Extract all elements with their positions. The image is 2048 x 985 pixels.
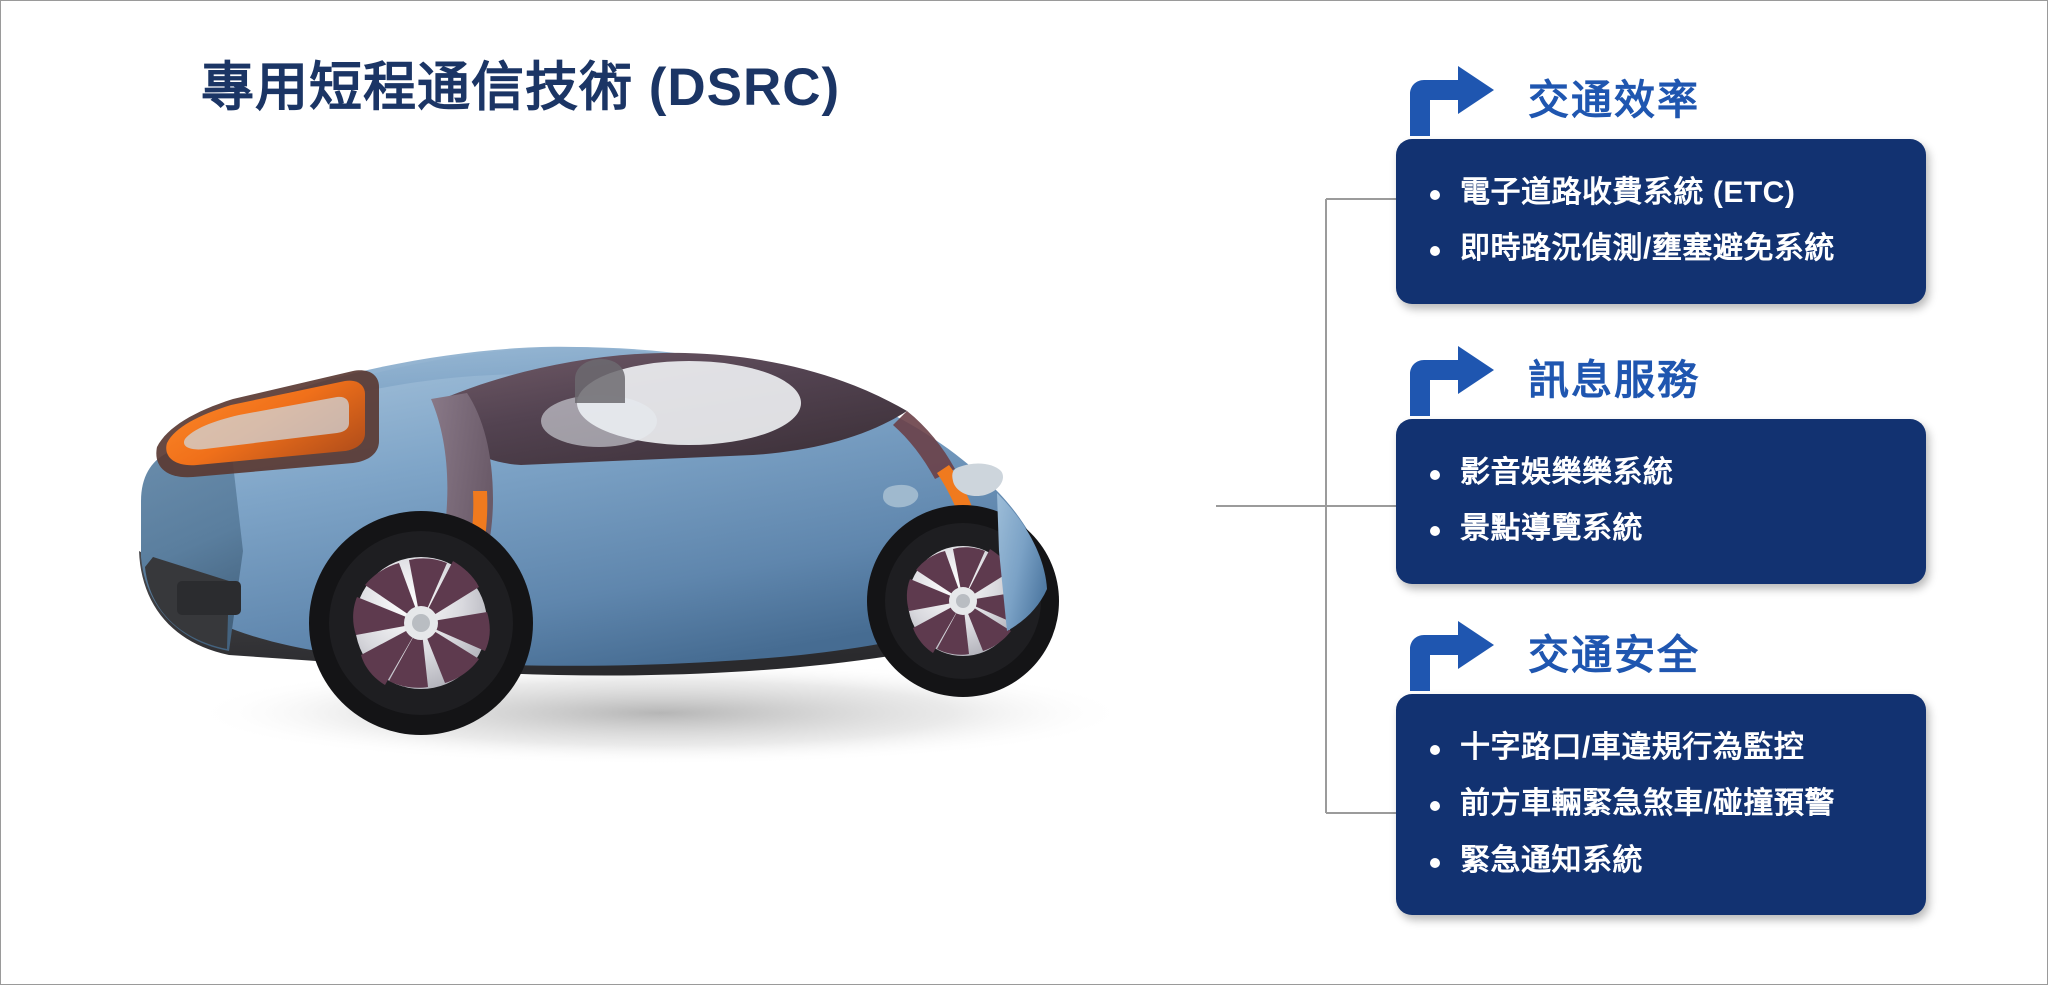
bullet-dot-icon xyxy=(1430,470,1440,480)
bullet-list: 電子道路收費系統 (ETC) 即時路況偵測/壅塞避免系統 xyxy=(1430,165,1896,278)
turn-right-arrow-icon xyxy=(1402,619,1498,691)
bullet-list: 十字路口/車違規行為監控 前方車輛緊急煞車/碰撞預警 緊急通知系統 xyxy=(1430,720,1896,889)
bullet-dot-icon xyxy=(1430,858,1440,868)
list-item: 景點導覽系統 xyxy=(1430,501,1896,557)
list-item-label: 十字路口/車違規行為監控 xyxy=(1460,729,1804,767)
slide-canvas: 專用短程通信技術 (DSRC) xyxy=(0,0,2048,985)
page-title: 專用短程通信技術 (DSRC) xyxy=(201,56,840,120)
branch-header: 訊息服務 xyxy=(1396,341,1926,419)
branch-information-service[interactable]: 訊息服務 影音娛樂樂系統 景點導覽系統 xyxy=(1396,341,1926,584)
branch-traffic-efficiency[interactable]: 交通效率 電子道路收費系統 (ETC) 即時路況偵測/壅塞避免系統 xyxy=(1396,61,1926,304)
list-item: 影音娛樂樂系統 xyxy=(1430,445,1896,501)
list-item-label: 影音娛樂樂系統 xyxy=(1460,454,1674,492)
bullet-list: 影音娛樂樂系統 景點導覽系統 xyxy=(1430,445,1896,558)
branch-card: 影音娛樂樂系統 景點導覽系統 xyxy=(1396,419,1926,584)
branch-title: 交通安全 xyxy=(1528,635,1700,676)
concept-car-image xyxy=(101,251,1261,771)
branch-header: 交通效率 xyxy=(1396,61,1926,139)
list-item: 十字路口/車違規行為監控 xyxy=(1430,720,1896,776)
list-item-label: 前方車輛緊急煞車/碰撞預警 xyxy=(1460,785,1835,823)
branch-card: 十字路口/車違規行為監控 前方車輛緊急煞車/碰撞預警 緊急通知系統 xyxy=(1396,694,1926,915)
list-item-label: 緊急通知系統 xyxy=(1460,842,1643,880)
bullet-dot-icon xyxy=(1430,526,1440,536)
list-item: 前方車輛緊急煞車/碰撞預警 xyxy=(1430,776,1896,832)
branch-card: 電子道路收費系統 (ETC) 即時路況偵測/壅塞避免系統 xyxy=(1396,139,1926,304)
car-headrest xyxy=(575,359,625,403)
branch-title: 訊息服務 xyxy=(1528,360,1700,401)
branch-traffic-safety[interactable]: 交通安全 十字路口/車違規行為監控 前方車輛緊急煞車/碰撞預警 緊急通知系統 xyxy=(1396,616,1926,915)
bullet-dot-icon xyxy=(1430,745,1440,755)
bullet-dot-icon xyxy=(1430,190,1440,200)
list-item-label: 電子道路收費系統 (ETC) xyxy=(1460,174,1795,212)
list-item-label: 即時路況偵測/壅塞避免系統 xyxy=(1460,230,1835,268)
list-item: 即時路況偵測/壅塞避免系統 xyxy=(1430,221,1896,277)
list-item-label: 景點導覽系統 xyxy=(1460,510,1643,548)
bullet-dot-icon xyxy=(1430,801,1440,811)
turn-right-arrow-icon xyxy=(1402,344,1498,416)
car-rear-wheel xyxy=(309,511,533,735)
branch-header: 交通安全 xyxy=(1396,616,1926,694)
turn-right-arrow-icon xyxy=(1402,64,1498,136)
list-item: 電子道路收費系統 (ETC) xyxy=(1430,165,1896,221)
car-rear-vent xyxy=(177,581,241,615)
branch-title: 交通效率 xyxy=(1528,80,1700,121)
bullet-dot-icon xyxy=(1430,246,1440,256)
list-item: 緊急通知系統 xyxy=(1430,833,1896,889)
